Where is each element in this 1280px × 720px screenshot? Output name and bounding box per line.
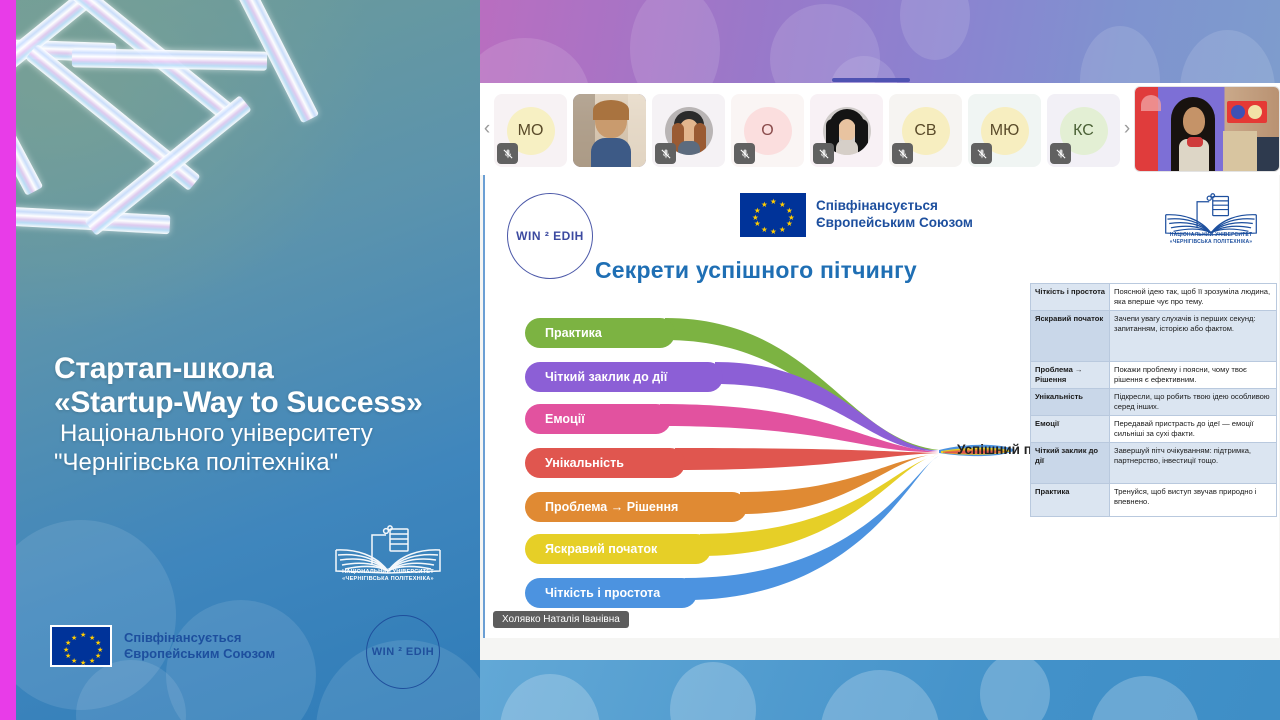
cover-subtitle-line-2: "Чернігівська політехніка" xyxy=(54,449,474,478)
table-cell-value: Завершуй пітч очікуванням: підтримка, па… xyxy=(1110,443,1277,484)
bottom-blob xyxy=(980,660,1050,720)
participant-tile[interactable] xyxy=(652,94,725,167)
mic-muted-glyph xyxy=(818,148,830,160)
table-cell-value: Тренуйся, щоб виступ звучав природно і в… xyxy=(1110,484,1277,517)
mic-muted-glyph xyxy=(502,148,514,160)
bottom-blob xyxy=(500,674,600,720)
funnel-band: Практика xyxy=(525,318,675,348)
table-cell-value: Зачепи увагу слухачів із перших секунд: … xyxy=(1110,311,1277,362)
eu-cofunded-text-line-1: Співфінансується xyxy=(124,630,275,646)
table-cell-value: Передавай пристрасть до ідеї — емоції си… xyxy=(1110,416,1277,443)
slide-eu-flag-icon: ★ ★ ★ ★ ★ ★ ★ ★ ★ ★ ★ ★ xyxy=(740,193,806,237)
bottom-decorative-band xyxy=(480,660,1280,720)
presenter-name-badge: Холявко Наталія Іванівна xyxy=(493,611,629,628)
mic-muted-glyph xyxy=(660,148,672,160)
mic-muted-glyph xyxy=(976,148,988,160)
slide-win-edih-label: WIN ² EDIH xyxy=(516,229,584,243)
bottom-blob xyxy=(820,670,940,720)
slide-university-caption-1: НАЦІОНАЛЬНИЙ УНІВЕРСИТЕТ xyxy=(1157,232,1265,238)
participant-tile[interactable] xyxy=(810,94,883,167)
table-cell-key: Чіткий заклик до дії xyxy=(1031,443,1110,484)
header-blob xyxy=(1180,30,1275,83)
table-cell-value: Підкресли, що робить твою ідею особливою… xyxy=(1110,389,1277,416)
table-cell-value: Покажи проблему і поясни, чому твоє ріше… xyxy=(1110,362,1277,389)
pitch-funnel-diagram: Практика Чіткий заклик до дії Емоції Уні… xyxy=(515,300,1055,610)
participant-tile[interactable]: КС xyxy=(1047,94,1120,167)
eu-cofunded-text-line-2: Європейським Союзом xyxy=(124,646,275,662)
table-row: Унікальність Підкресли, що робить твою і… xyxy=(1031,389,1277,416)
header-blob xyxy=(900,0,970,60)
eu-flag-icon: ★ ★ ★ ★ ★ ★ ★ ★ ★ ★ ★ ★ xyxy=(50,625,112,667)
table-row: Яскравий початок Зачепи увагу слухачів і… xyxy=(1031,311,1277,362)
shared-content-stage: WIN ² EDIH ★ ★ ★ ★ ★ ★ ★ ★ ★ ★ xyxy=(480,175,1280,660)
presentation-slide[interactable]: WIN ² EDIH ★ ★ ★ ★ ★ ★ ★ ★ ★ ★ xyxy=(483,175,1279,638)
funnel-band: Проблема → Рішення xyxy=(525,492,747,522)
table-cell-key: Практика xyxy=(1031,484,1110,517)
cover-title-block: Стартап-школа «Startup-Way to Success» Н… xyxy=(54,352,474,477)
university-logo-caption-1: НАЦІОНАЛЬНИЙ УНІВЕРСИТЕТ xyxy=(328,569,448,575)
cover-heading-line-2: «Startup-Way to Success» xyxy=(54,386,474,420)
table-row: Чіткий заклик до дії Завершуй пітч очіку… xyxy=(1031,443,1277,484)
participant-tile[interactable]: МЮ xyxy=(968,94,1041,167)
funnel-band: Чіткий заклик до дії xyxy=(525,362,723,392)
header-blob xyxy=(630,0,720,83)
participant-tile-active-speaker[interactable] xyxy=(573,94,646,167)
mic-off-icon xyxy=(892,143,913,164)
table-row: Практика Тренуйся, щоб виступ звучав при… xyxy=(1031,484,1277,517)
mic-off-icon xyxy=(497,143,518,164)
university-logo-caption-2: «ЧЕРНІГІВСЬКА ПОЛІТЕХНІКА» xyxy=(328,576,448,582)
mic-off-icon xyxy=(734,143,755,164)
table-cell-key: Чіткість і простота xyxy=(1031,284,1110,311)
meeting-header-background xyxy=(480,0,1280,83)
participant-tile[interactable]: О xyxy=(731,94,804,167)
slide-win-edih-logo: WIN ² EDIH xyxy=(507,193,593,279)
table-row: Чіткість і простота Пояснюй ідею так, що… xyxy=(1031,284,1277,311)
funnel-band: Яскравий початок xyxy=(525,534,711,564)
bottom-blob xyxy=(670,662,756,720)
header-blob xyxy=(1080,26,1160,83)
bottom-blob xyxy=(1090,676,1200,720)
left-accent-strip xyxy=(0,0,16,720)
video-feed xyxy=(573,94,646,167)
filmstrip-prev-arrow[interactable]: ‹ xyxy=(480,83,494,175)
slide-eu-text-line-1: Співфінансується xyxy=(816,198,973,215)
cover-heading-line-1: Стартап-школа xyxy=(54,352,474,386)
slide-university-logo: НАЦІОНАЛЬНИЙ УНІВЕРСИТЕТ «ЧЕРНІГІВСЬКА П… xyxy=(1157,193,1265,247)
funnel-band: Чіткість і простота xyxy=(525,578,697,608)
participant-tiles: MO xyxy=(494,82,1120,177)
university-logo: НАЦІОНАЛЬНИЙ УНІВЕРСИТЕТ «ЧЕРНІГІВСЬКА П… xyxy=(328,525,448,587)
mic-off-icon xyxy=(971,143,992,164)
slide-eu-text-line-2: Європейським Союзом xyxy=(816,215,973,232)
mic-off-icon xyxy=(813,143,834,164)
table-row: Емоції Передавай пристрасть до ідеї — ем… xyxy=(1031,416,1277,443)
pitch-secrets-table: Чіткість і простота Пояснюй ідею так, що… xyxy=(1030,283,1277,517)
slide-eu-cofunded-block: ★ ★ ★ ★ ★ ★ ★ ★ ★ ★ ★ ★ Співфінанс xyxy=(740,193,973,237)
table-cell-key: Яскравий початок xyxy=(1031,311,1110,362)
mic-off-icon xyxy=(1050,143,1071,164)
participant-tile[interactable]: СВ xyxy=(889,94,962,167)
mic-muted-glyph xyxy=(739,148,751,160)
slide-university-caption-2: «ЧЕРНІГІВСЬКА ПОЛІТЕХНІКА» xyxy=(1157,239,1265,245)
funnel-band: Емоції xyxy=(525,404,671,434)
funnel-band: Унікальність xyxy=(525,448,685,478)
mic-muted-glyph xyxy=(1055,148,1067,160)
table-row: Проблема → Рішення Покажи проблему і поя… xyxy=(1031,362,1277,389)
filmstrip-next-arrow[interactable]: › xyxy=(1120,83,1134,175)
presentation-cover-panel: Стартап-школа «Startup-Way to Success» Н… xyxy=(16,0,480,720)
header-blob xyxy=(480,38,590,83)
table-cell-value: Пояснюй ідею так, щоб її зрозуміла людин… xyxy=(1110,284,1277,311)
spotlight-video-tile[interactable] xyxy=(1134,86,1280,172)
slide-title: Секрети успішного пітчингу xyxy=(595,257,917,284)
cover-subtitle-line-1: Національного університету xyxy=(54,420,474,449)
meeting-window: ‹ MO xyxy=(480,0,1280,720)
participant-tile[interactable]: MO xyxy=(494,94,567,167)
table-cell-key: Унікальність xyxy=(1031,389,1110,416)
eu-cofunded-block: ★ ★ ★ ★ ★ ★ ★ ★ ★ ★ ★ ★ Співфінансується… xyxy=(50,625,275,667)
win-edih-logo: WIN ² EDIH xyxy=(366,615,440,689)
screen-root: Стартап-школа «Startup-Way to Success» Н… xyxy=(0,0,1280,720)
iridescent-cube-artwork xyxy=(16,0,366,308)
table-cell-key: Проблема → Рішення xyxy=(1031,362,1110,389)
mic-off-icon xyxy=(655,143,676,164)
win-edih-label: WIN ² EDIH xyxy=(372,646,434,658)
table-cell-key: Емоції xyxy=(1031,416,1110,443)
mic-muted-glyph xyxy=(897,148,909,160)
